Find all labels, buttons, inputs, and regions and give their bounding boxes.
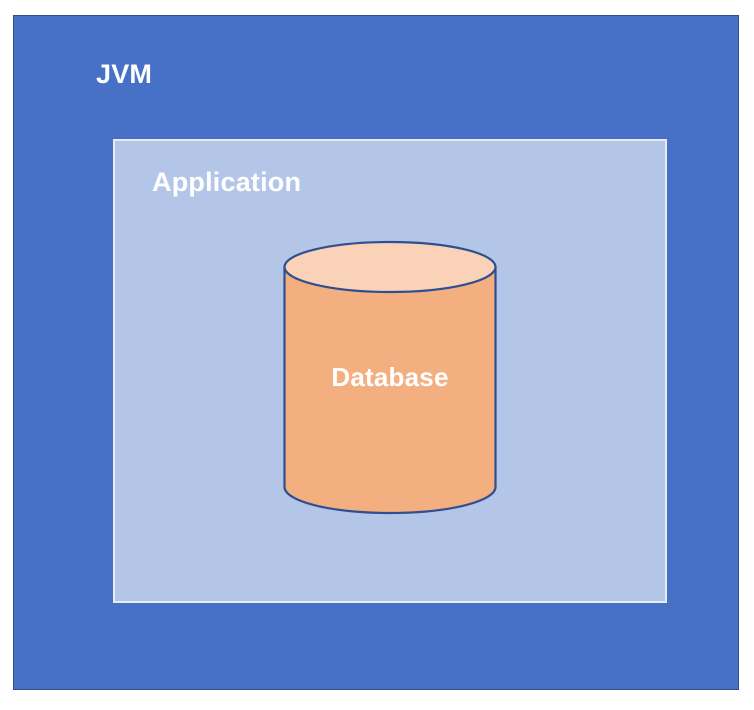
application-label: Application bbox=[152, 168, 301, 198]
jvm-container[interactable]: JVM Application Database bbox=[13, 15, 739, 690]
diagram-canvas: JVM Application Database bbox=[0, 0, 754, 710]
cylinder-icon bbox=[282, 241, 498, 513]
jvm-label: JVM bbox=[96, 60, 152, 90]
database-node[interactable]: Database bbox=[282, 241, 498, 513]
